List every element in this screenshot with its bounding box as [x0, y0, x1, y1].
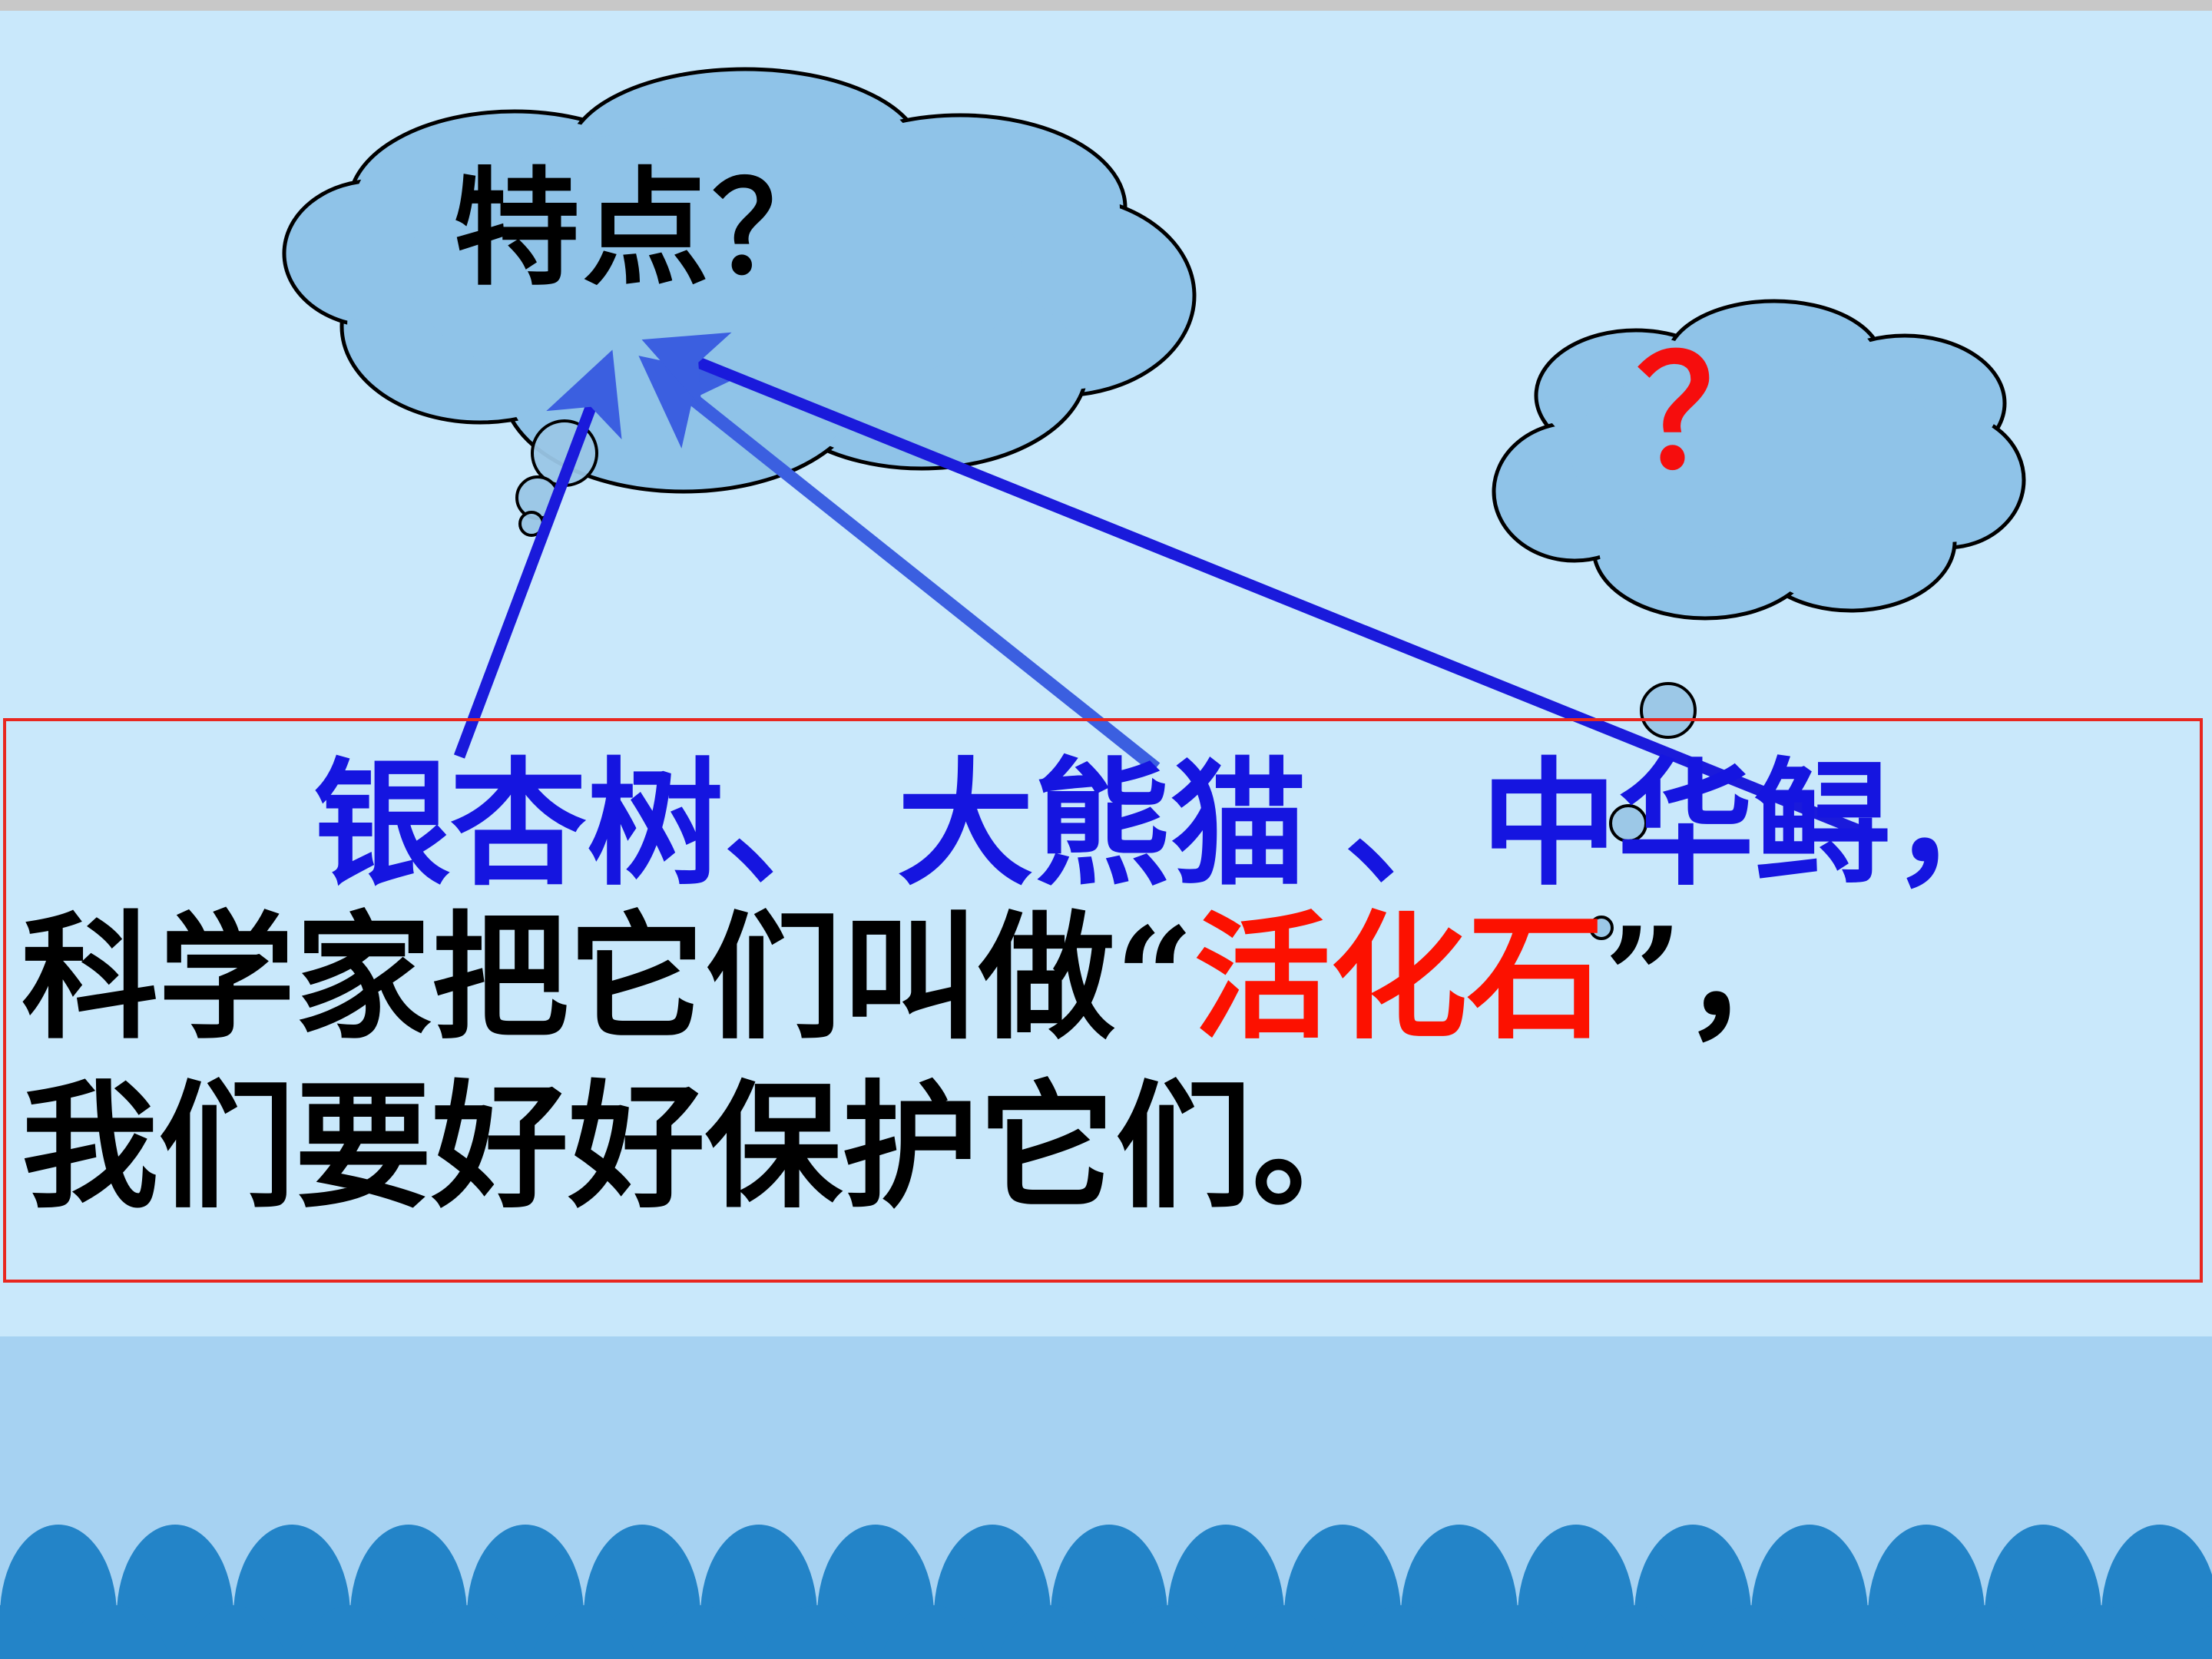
scallop [2160, 1605, 2212, 1659]
scallop [1459, 1605, 1576, 1659]
scallop-row-lower [0, 1605, 2212, 1659]
scallop [292, 1605, 409, 1659]
content-text-box: 银杏树、大熊猫、中华鲟， 科学家把它们叫做“活化石”， 我们要好好保护它们。 [3, 718, 2203, 1283]
text-line-1: 银杏树、大熊猫、中华鲟， [313, 756, 2028, 892]
text-line-3: 我们要好好保护它们。 [22, 1078, 1389, 1215]
scallop [1109, 1605, 1226, 1659]
bubble-tail-left [515, 407, 668, 561]
scallop [1693, 1605, 1810, 1659]
line3-part-1: 我们要好好保护它们。 [22, 1066, 1389, 1227]
slide-canvas: 特点？ [0, 0, 2212, 1659]
scallop [525, 1605, 642, 1659]
line1-part-2: 大熊猫 [897, 743, 1307, 904]
scallop [409, 1605, 525, 1659]
scallop [1343, 1605, 1459, 1659]
scallop [2043, 1605, 2160, 1659]
scallop [992, 1605, 1109, 1659]
scallop [1576, 1605, 1693, 1659]
scallop [759, 1605, 876, 1659]
text-line-2: 科学家把它们叫做“活化石”， [22, 909, 1820, 1046]
cloud-right-label: ？ [1636, 338, 1793, 492]
scallop [0, 1605, 58, 1659]
scallop [1226, 1605, 1343, 1659]
scallop [876, 1605, 992, 1659]
scallop [1810, 1605, 1926, 1659]
scallop [58, 1605, 175, 1659]
scallop [175, 1605, 292, 1659]
line2-highlight: 活化石 [1194, 897, 1604, 1058]
scallop [642, 1605, 759, 1659]
line1-part-3: 、中华鲟， [1344, 743, 2028, 904]
top-strip [0, 0, 2212, 11]
line2-part-1: 科学家把它们叫做“ [22, 897, 1194, 1058]
scallop [1926, 1605, 2043, 1659]
line2-part-3: ”， [1604, 897, 1819, 1058]
cloud-left-label: 特点？ [453, 165, 841, 292]
line1-part-1: 银杏树、 [313, 743, 860, 904]
